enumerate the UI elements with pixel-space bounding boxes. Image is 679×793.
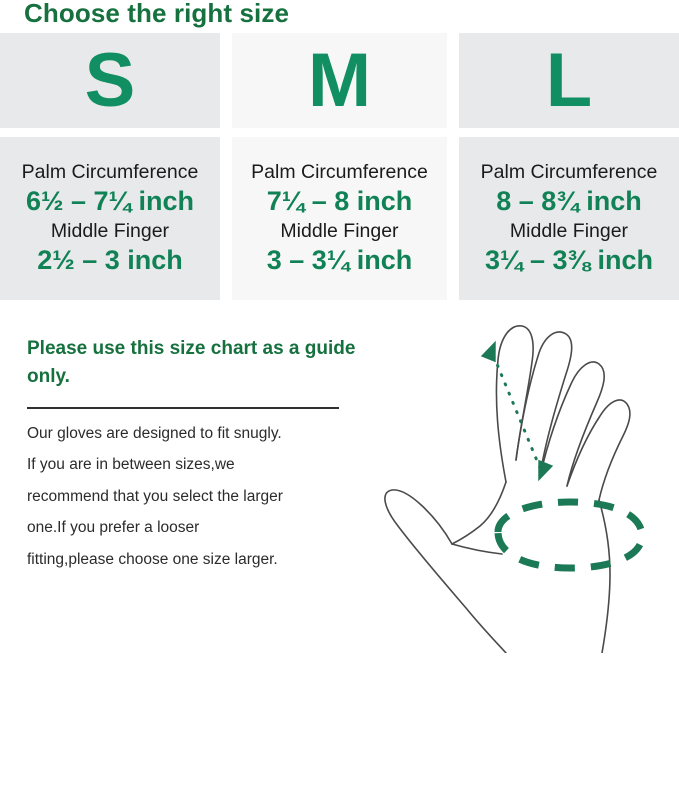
circumference-measure-arc — [498, 502, 642, 568]
palm-circumference-label-l: Palm Circumference — [481, 161, 658, 184]
size-spec-box-m: Palm Circumference 7¼ – 8 inch Middle Fi… — [232, 137, 447, 300]
middle-finger-value-s: 2½ – 3 inch — [37, 244, 183, 276]
size-letter-box-s: S — [0, 33, 220, 128]
note-line: fitting,please choose one size larger. — [27, 550, 357, 569]
palm-circumference-value-m: 7¼ – 8 inch — [267, 185, 413, 217]
hand-measurement-diagram: Middle Finger Circumference — [380, 300, 679, 653]
size-spec-box-s: Palm Circumference 6½ – 7¼ inch Middle F… — [0, 137, 220, 300]
size-column-s: S Palm Circumference 6½ – 7¼ inch Middle… — [0, 33, 220, 300]
palm-circumference-label-m: Palm Circumference — [251, 161, 428, 184]
size-letter-box-m: M — [232, 33, 447, 128]
size-spec-box-l: Palm Circumference 8 – 8¾ inch Middle Fi… — [459, 137, 679, 300]
guidance-note: Please use this size chart as a guide on… — [27, 335, 357, 569]
middle-finger-label-m: Middle Finger — [280, 220, 398, 243]
palm-circumference-label-s: Palm Circumference — [22, 161, 199, 184]
note-heading: Please use this size chart as a guide on… — [27, 335, 357, 390]
note-line: one.If you prefer a looser — [27, 518, 357, 537]
middle-finger-value-l: 3¼ – 3⅜ inch — [485, 244, 653, 276]
page-title: Choose the right size — [24, 0, 289, 29]
note-line: If you are in between sizes,we — [27, 455, 357, 474]
note-line: Our gloves are designed to fit snugly. — [27, 424, 357, 443]
middle-finger-measure-arrow — [481, 338, 553, 485]
size-letter-l: L — [546, 43, 592, 119]
size-letter-s: S — [85, 43, 136, 119]
note-body: Our gloves are designed to fit snugly. I… — [27, 424, 357, 569]
palm-circumference-value-l: 8 – 8¾ inch — [496, 185, 642, 217]
hand-illustration-icon — [380, 300, 679, 653]
palm-circumference-value-s: 6½ – 7¼ inch — [26, 185, 194, 217]
size-letter-box-l: L — [459, 33, 679, 128]
middle-finger-value-m: 3 – 3¼ inch — [267, 244, 413, 276]
size-letter-m: M — [308, 43, 371, 119]
note-line: recommend that you select the larger — [27, 487, 357, 506]
note-divider — [27, 407, 339, 409]
size-column-m: M Palm Circumference 7¼ – 8 inch Middle … — [232, 33, 447, 300]
middle-finger-label-l: Middle Finger — [510, 220, 628, 243]
size-chart-grid: S Palm Circumference 6½ – 7¼ inch Middle… — [0, 33, 679, 300]
size-column-l: L Palm Circumference 8 – 8¾ inch Middle … — [459, 33, 679, 300]
middle-finger-label-s: Middle Finger — [51, 220, 169, 243]
